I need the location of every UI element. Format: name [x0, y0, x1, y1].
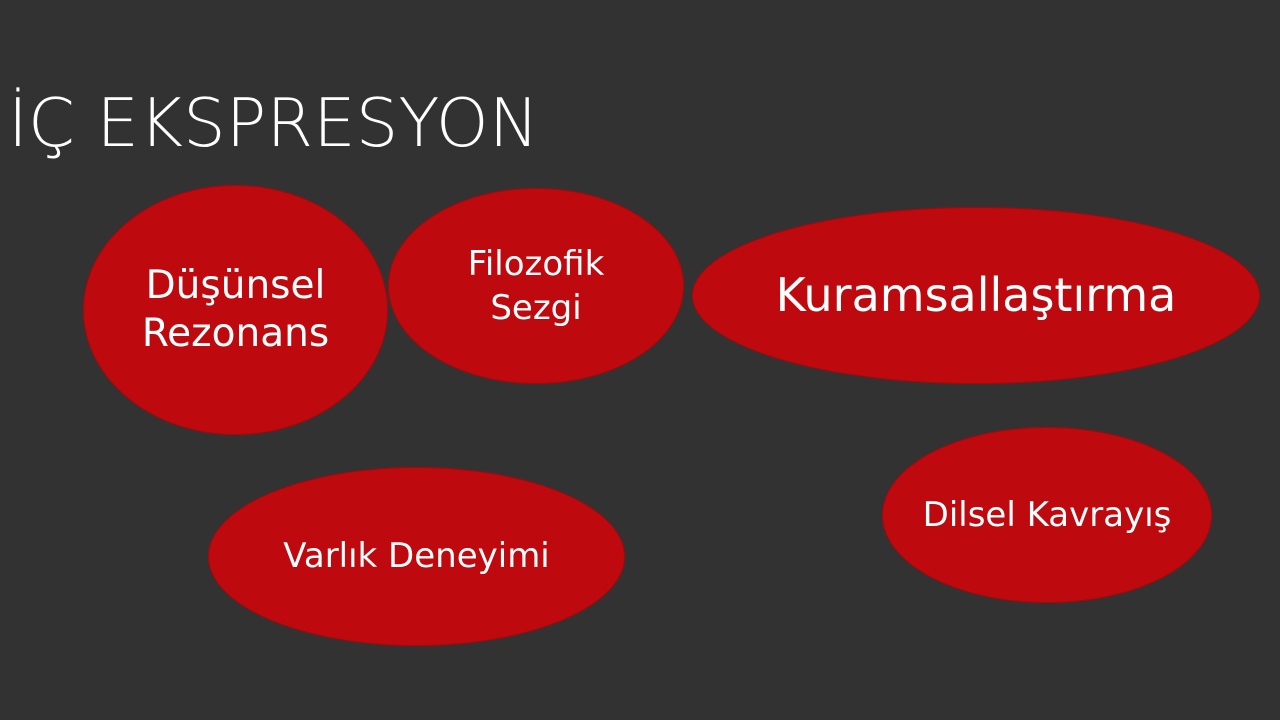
page-title: İÇ EKSPRESYON — [8, 90, 708, 157]
ellipse-label: Filozofik Sezgi — [462, 242, 611, 330]
ellipse-label: Varlık Deneyimi — [277, 536, 556, 577]
ellipse-label-line2: Sezgi — [490, 288, 581, 328]
ellipse-label: Kuramsallaştırma — [770, 268, 1183, 323]
ellipse-label: Düşünsel Rezonans — [136, 262, 335, 357]
ellipse-label-line1: Düşünsel — [146, 263, 326, 308]
ellipse-label-line1: Varlık Deneyimi — [283, 536, 550, 576]
ellipse-kuramsallastirma[interactable]: Kuramsallaştırma — [692, 207, 1260, 384]
ellipse-label-line1: Kuramsallaştırma — [776, 268, 1177, 322]
ellipse-label-line1: Filozofik — [468, 244, 605, 284]
slide-canvas: İÇ EKSPRESYON Düşünsel Rezonans Filozofi… — [0, 0, 1280, 720]
ellipse-filozofik-sezgi[interactable]: Filozofik Sezgi — [388, 188, 684, 384]
ellipse-dilsel-kavrayis[interactable]: Dilsel Kavrayış — [882, 427, 1212, 603]
ellipse-varlik-deneyimi[interactable]: Varlık Deneyimi — [208, 467, 625, 646]
ellipse-label-line1: Dilsel Kavrayış — [923, 495, 1172, 535]
ellipse-label: Dilsel Kavrayış — [917, 495, 1178, 536]
ellipse-dusunsel-rezonans[interactable]: Düşünsel Rezonans — [83, 185, 388, 435]
ellipse-label-line2: Rezonans — [142, 311, 329, 356]
